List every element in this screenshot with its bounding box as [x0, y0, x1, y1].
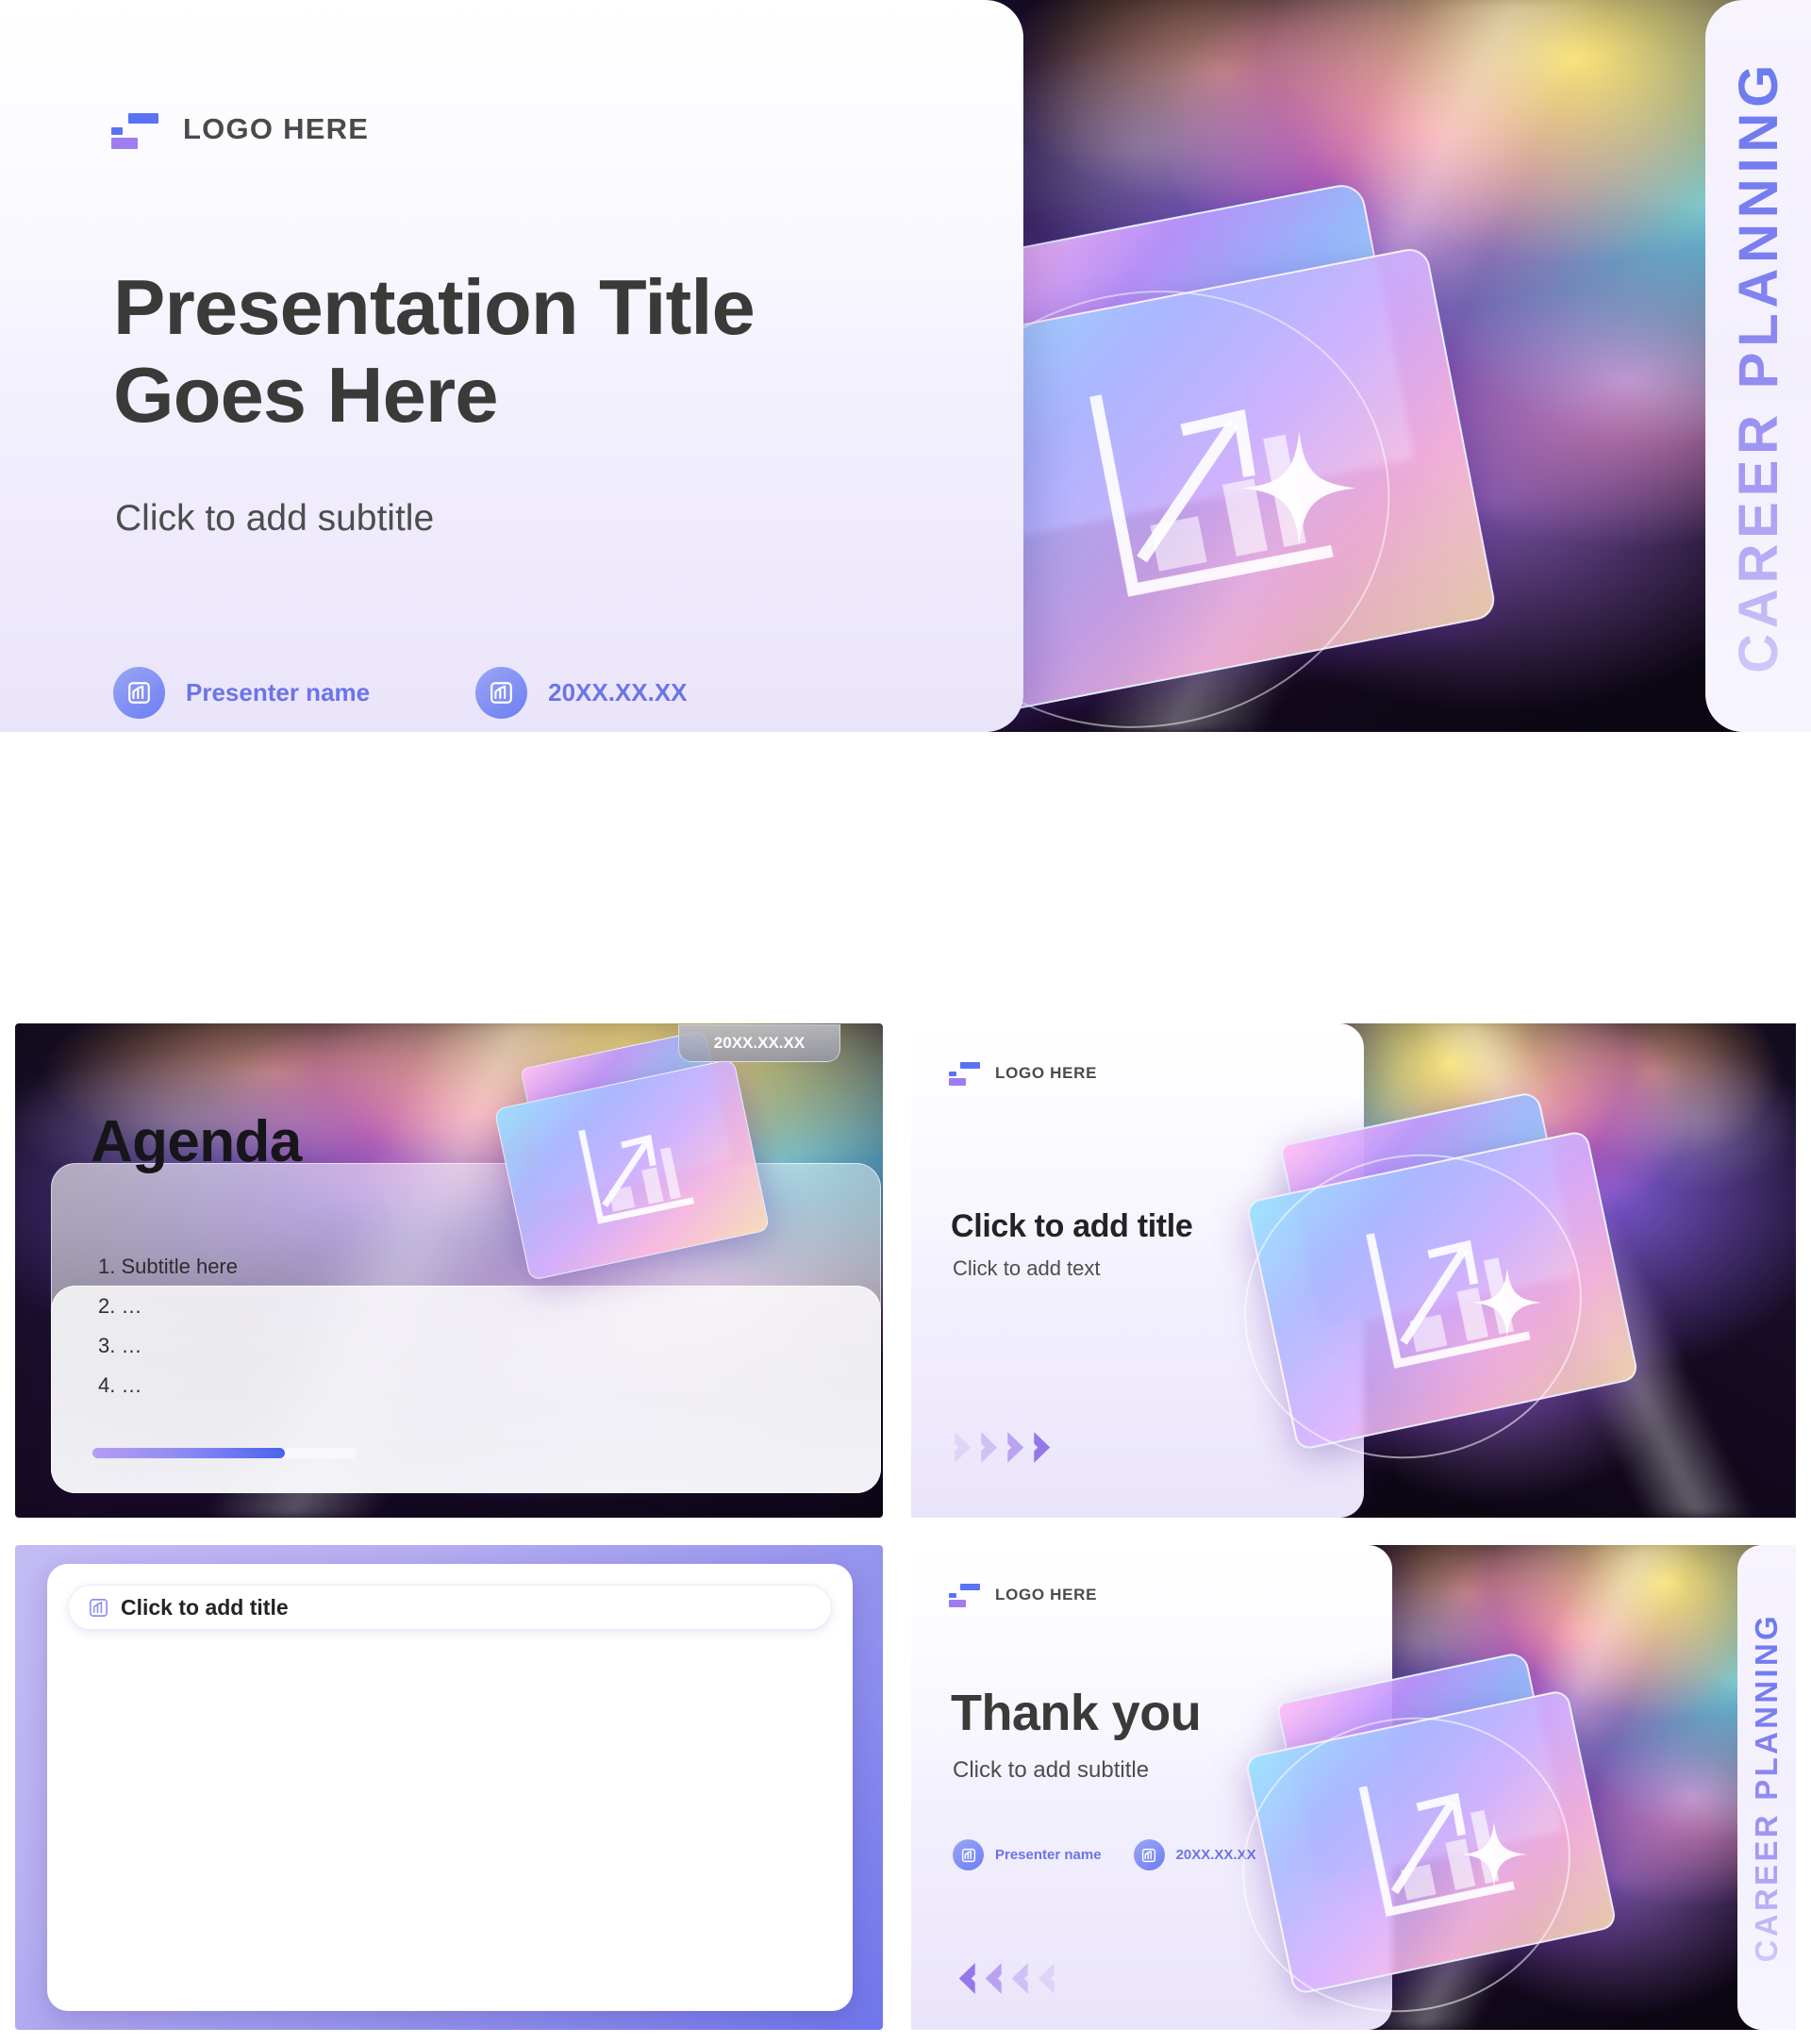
agenda-date-badge[interactable]: 20XX.XX.XX [678, 1024, 840, 1062]
bar-chart-icon [475, 667, 527, 719]
agenda-heading[interactable]: Agenda [91, 1108, 302, 1175]
side-rail-label: CAREER PLANNING [1749, 1613, 1785, 1962]
slide-thank-you[interactable]: LOGO HERE Thank you Click to add subtitl… [911, 1545, 1796, 2030]
title-field-text: Click to add title [121, 1595, 289, 1620]
agenda-date-value: 20XX.XX.XX [714, 1034, 805, 1053]
date-chip[interactable]: 20XX.XX.XX [475, 667, 687, 719]
glass-folder-artwork [1260, 1677, 1694, 2030]
glass-folder-artwork [929, 226, 1589, 732]
presenter-name: Presenter name [995, 1847, 1102, 1863]
glass-folder-artwork [1262, 1118, 1705, 1495]
logo-lockup[interactable]: LOGO HERE [949, 1583, 1097, 1606]
chevron-left-group [953, 1962, 1056, 1995]
bar-chart-icon [1134, 1839, 1165, 1870]
chevron-right-icon [1005, 1431, 1030, 1464]
chevron-right-icon [1032, 1431, 1056, 1464]
agenda-progress-bar[interactable] [92, 1448, 357, 1458]
list-item[interactable]: 1. Subtitle here [98, 1255, 238, 1279]
glass-folder-artwork [506, 1052, 817, 1288]
side-rail-career-planning: CAREER PLANNING [1705, 0, 1811, 732]
logo-text: LOGO HERE [183, 112, 369, 146]
logo-lockup[interactable]: LOGO HERE [949, 1061, 1097, 1085]
slide-blank-body[interactable]: Click to add title [15, 1545, 883, 2030]
slide-agenda[interactable]: 20XX.XX.XX Agenda 1. Subtitle here 2. … … [15, 1023, 883, 1518]
slide-content[interactable]: LOGO HERE Click to add title Click to ad… [911, 1023, 1796, 1518]
logo-bars-icon [949, 1061, 980, 1085]
content-title[interactable]: Click to add title [951, 1208, 1192, 1244]
chevron-right-group [953, 1431, 1056, 1464]
chevron-left-icon [1032, 1962, 1056, 1995]
logo-text: LOGO HERE [995, 1064, 1097, 1083]
bar-chart-icon [113, 667, 165, 719]
presentation-title[interactable]: Presentation Title Goes Here [113, 264, 962, 440]
date-chip[interactable]: 20XX.XX.XX [1134, 1839, 1256, 1870]
list-item[interactable]: 3. … [98, 1334, 238, 1358]
list-item[interactable]: 4. … [98, 1373, 238, 1398]
logo-text: LOGO HERE [995, 1586, 1097, 1604]
presenter-chip[interactable]: Presenter name [953, 1839, 1102, 1870]
chevron-right-icon [953, 1431, 977, 1464]
slide-deck-overview: LOGO HERE Presentation Title Goes Here C… [0, 0, 1811, 2044]
date-value: 20XX.XX.XX [548, 678, 687, 707]
chevron-left-icon [953, 1962, 977, 1995]
thank-you-headline[interactable]: Thank you [951, 1685, 1201, 1741]
title-meta-row: Presenter name 20XX.XX.XX [113, 667, 688, 719]
logo-bars-icon [111, 111, 158, 147]
thank-you-subtitle[interactable]: Click to add subtitle [953, 1757, 1149, 1784]
thanks-meta-row: Presenter name 20XX.XX.XX [953, 1839, 1256, 1870]
logo-lockup[interactable]: LOGO HERE [111, 111, 369, 147]
bar-chart-icon [953, 1839, 984, 1870]
list-item[interactable]: 2. … [98, 1294, 238, 1319]
agenda-list[interactable]: 1. Subtitle here 2. … 3. … 4. … [98, 1255, 238, 1413]
presentation-subtitle[interactable]: Click to add subtitle [115, 498, 434, 540]
side-rail-label: CAREER PLANNING [1727, 59, 1790, 673]
chevron-left-icon [979, 1962, 1004, 1995]
chevron-left-icon [1005, 1962, 1030, 1995]
presenter-chip[interactable]: Presenter name [113, 667, 370, 719]
side-rail-career-planning: CAREER PLANNING [1737, 1545, 1796, 2030]
presenter-name: Presenter name [186, 678, 370, 707]
bar-chart-icon [88, 1597, 109, 1619]
slide-title[interactable]: LOGO HERE Presentation Title Goes Here C… [0, 0, 1811, 732]
chevron-right-icon [979, 1431, 1004, 1464]
content-body-text[interactable]: Click to add text [953, 1256, 1101, 1281]
title-input-field[interactable]: Click to add title [68, 1585, 832, 1630]
title-light-panel: LOGO HERE Presentation Title Goes Here C… [0, 0, 1023, 732]
blank-content-area[interactable]: Click to add title [47, 1564, 853, 2011]
logo-bars-icon [949, 1583, 980, 1606]
